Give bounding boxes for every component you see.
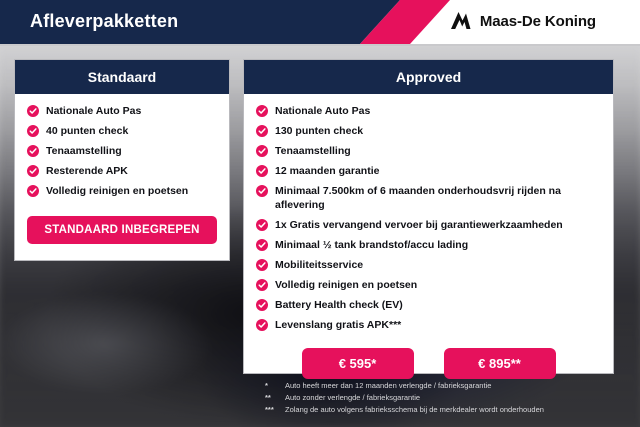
feature-list-approved: Nationale Auto Pas 130 punten check Tena… [244, 104, 613, 332]
list-item: Mobiliteitsservice [244, 258, 613, 272]
brand-name: Maas-De Koning [480, 13, 596, 30]
check-circle-icon [27, 145, 39, 157]
feature-label: 12 maanden garantie [275, 164, 379, 178]
header-divider [0, 44, 640, 46]
footnotes-block: * Auto heeft meer dan 12 maanden verleng… [265, 381, 625, 417]
card-body-standaard: Nationale Auto Pas 40 punten check Tenaa… [15, 94, 229, 244]
check-circle-icon [27, 185, 39, 197]
page-title: Afleverpakketten [30, 11, 178, 32]
feature-label: Minimaal ½ tank brandstof/accu lading [275, 238, 468, 252]
check-circle-icon [27, 125, 39, 137]
footnote-row: ** Auto zonder verlengde / fabrieksgaran… [265, 393, 625, 403]
check-circle-icon [256, 259, 268, 271]
list-item: Volledig reinigen en poetsen [15, 184, 229, 198]
check-circle-icon [256, 299, 268, 311]
price-button-895[interactable]: € 895** [444, 348, 556, 379]
footnote-marker: * [265, 381, 279, 390]
check-circle-icon [27, 165, 39, 177]
card-title-standaard: Standaard [88, 69, 156, 85]
list-item: 1x Gratis vervangend vervoer bij garanti… [244, 218, 613, 232]
feature-label: Mobiliteitsservice [275, 258, 363, 272]
check-circle-icon [256, 185, 268, 197]
feature-label: Battery Health check (EV) [275, 298, 403, 312]
check-circle-icon [27, 105, 39, 117]
list-item: Volledig reinigen en poetsen [244, 278, 613, 292]
list-item: 40 punten check [15, 124, 229, 138]
cta-container-standaard: STANDAARD INBEGREPEN [15, 204, 229, 244]
feature-label: Volledig reinigen en poetsen [46, 184, 188, 198]
maas-de-koning-m-logomark [450, 11, 472, 31]
check-circle-icon [256, 125, 268, 137]
footnote-marker: ** [265, 393, 279, 402]
package-card-standaard: Standaard Nationale Auto Pas 40 punten c [14, 59, 230, 261]
list-item: Minimaal 7.500km of 6 maanden onderhouds… [244, 184, 613, 212]
feature-label: Volledig reinigen en poetsen [275, 278, 417, 292]
footnote-row: *** Zolang de auto volgens fabrieksschem… [265, 405, 625, 415]
list-item: Battery Health check (EV) [244, 298, 613, 312]
list-item: 12 maanden garantie [244, 164, 613, 178]
list-item: Levenslang gratis APK*** [244, 318, 613, 332]
feature-label: Nationale Auto Pas [275, 104, 370, 118]
feature-label: 1x Gratis vervangend vervoer bij garanti… [275, 218, 563, 232]
feature-label: Minimaal 7.500km of 6 maanden onderhouds… [275, 184, 603, 212]
list-item: Nationale Auto Pas [244, 104, 613, 118]
list-item: 130 punten check [244, 124, 613, 138]
feature-label: 40 punten check [46, 124, 128, 138]
price-button-595[interactable]: € 595* [302, 348, 414, 379]
check-circle-icon [256, 165, 268, 177]
list-item: Tenaamstelling [244, 144, 613, 158]
list-item: Nationale Auto Pas [15, 104, 229, 118]
card-header-approved: Approved [244, 60, 613, 94]
feature-label: Levenslang gratis APK*** [275, 318, 401, 332]
footnote-text: Zolang de auto volgens fabrieksschema bi… [285, 405, 544, 415]
check-circle-icon [256, 239, 268, 251]
page-header: Afleverpakketten Maas-De Koning [0, 0, 640, 44]
price-button-row: € 595* € 895** [244, 338, 613, 379]
list-item: Tenaamstelling [15, 144, 229, 158]
list-item: Minimaal ½ tank brandstof/accu lading [244, 238, 613, 252]
check-circle-icon [256, 279, 268, 291]
footnote-row: * Auto heeft meer dan 12 maanden verleng… [265, 381, 625, 391]
card-title-approved: Approved [396, 69, 461, 85]
feature-label: 130 punten check [275, 124, 363, 138]
slide-root: Afleverpakketten Maas-De Koning Standaar… [0, 0, 640, 427]
package-card-approved: Approved Nationale Auto Pas 130 punten c [243, 59, 614, 374]
brand-lockup: Maas-De Koning [450, 11, 596, 31]
feature-list-standaard: Nationale Auto Pas 40 punten check Tenaa… [15, 104, 229, 198]
check-circle-icon [256, 219, 268, 231]
check-circle-icon [256, 105, 268, 117]
feature-label: Nationale Auto Pas [46, 104, 141, 118]
list-item: Resterende APK [15, 164, 229, 178]
footnote-text: Auto zonder verlengde / fabrieksgarantie [285, 393, 420, 403]
feature-label: Tenaamstelling [46, 144, 122, 158]
check-circle-icon [256, 145, 268, 157]
feature-label: Tenaamstelling [275, 144, 351, 158]
footnote-marker: *** [265, 405, 279, 414]
card-body-approved: Nationale Auto Pas 130 punten check Tena… [244, 94, 613, 379]
standaard-inbegrepen-button[interactable]: STANDAARD INBEGREPEN [27, 216, 217, 244]
feature-label: Resterende APK [46, 164, 128, 178]
footnote-text: Auto heeft meer dan 12 maanden verlengde… [285, 381, 491, 391]
check-circle-icon [256, 319, 268, 331]
card-header-standaard: Standaard [15, 60, 229, 94]
